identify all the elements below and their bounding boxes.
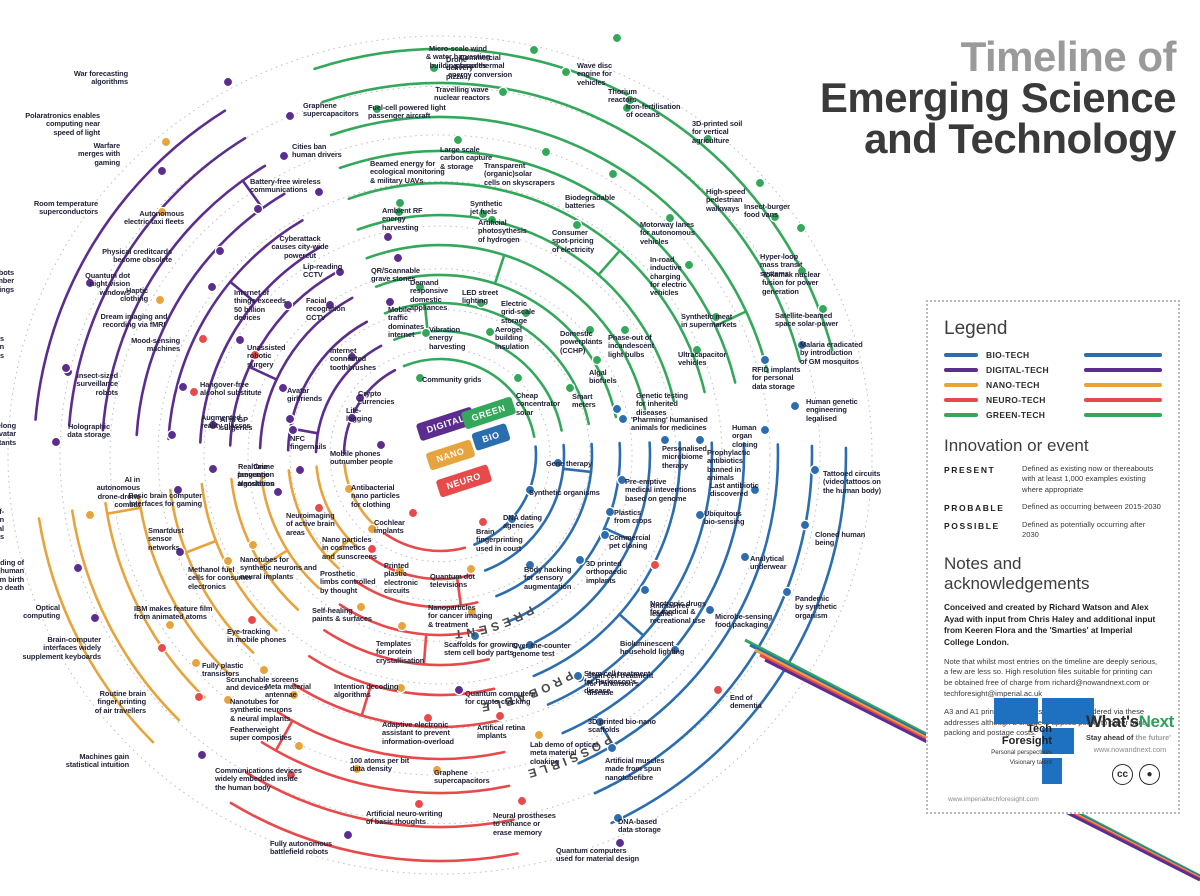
node-dot[interactable] bbox=[343, 830, 352, 839]
legend-item-green-tech: GREEN-TECH bbox=[944, 410, 1162, 420]
node-label: Lifelong avatar assistants bbox=[0, 422, 16, 447]
node-dot[interactable] bbox=[541, 147, 550, 156]
node-label: NFC fingernails bbox=[290, 435, 326, 452]
node-label: Prosthetic limbs controlled by thought bbox=[320, 570, 375, 595]
node-label: Internet of things exceeds 50 billion de… bbox=[234, 289, 286, 322]
node-label: Insect-burger food vans bbox=[744, 203, 790, 220]
node-label: 3D printed bio-nano scaffolds bbox=[588, 718, 656, 735]
whats-next-tagline: Stay ahead of the future' bbox=[1086, 733, 1174, 742]
node-dot[interactable] bbox=[760, 355, 769, 364]
node-label: Personalised microbiome therapy bbox=[662, 445, 707, 470]
node-label: Aerogel building insulation bbox=[495, 326, 529, 351]
title-line-3: and Technology bbox=[820, 118, 1176, 159]
node-label: Routine brain finger printing of air tra… bbox=[50, 690, 146, 715]
node-dot[interactable] bbox=[248, 540, 257, 549]
node-label: Transparent (organic)solar cells on skys… bbox=[484, 162, 555, 187]
branch-connector-nano bbox=[186, 541, 216, 553]
cc-icon: cc bbox=[1112, 764, 1133, 785]
node-label: Eye-tracking in mobile phones bbox=[227, 628, 286, 645]
branch-arc-neuro bbox=[385, 534, 465, 551]
node-label: Basic brain computer interfaces for gami… bbox=[106, 492, 202, 509]
node-label: Printed plastic electronic circuits bbox=[384, 562, 418, 595]
node-label: DNA-based data storage bbox=[618, 818, 661, 835]
node-label: Human genetic engineering legalised bbox=[806, 398, 858, 423]
node-label: IBM makes feature film from animated ato… bbox=[134, 605, 212, 622]
logo-block: Tech Foresight Personal perspectives Vis… bbox=[944, 694, 1174, 804]
node-label: Plastics from crops bbox=[614, 509, 652, 526]
node-label: Cities ban human drivers bbox=[292, 143, 342, 160]
node-label: Beamed energy for ecological monitoring … bbox=[370, 160, 445, 185]
node-label: Artificial muscles made from spun nanotu… bbox=[605, 757, 664, 782]
node-dot[interactable] bbox=[235, 335, 244, 344]
legend-swatch-icon bbox=[944, 353, 978, 357]
node-label: Unassisted robotic surgery bbox=[247, 344, 285, 369]
node-label: Adaptive electronic assistant to prevent… bbox=[382, 721, 454, 746]
node-label: Synthetic organisms bbox=[529, 489, 600, 497]
node-dot[interactable] bbox=[608, 169, 617, 178]
node-dot[interactable] bbox=[279, 151, 288, 160]
node-label: Scaffolds for growing stem cell body par… bbox=[444, 641, 518, 658]
node-label: Mobile phones outnumber people bbox=[330, 450, 393, 467]
node-dot[interactable] bbox=[612, 404, 621, 413]
definition-term: PRESENT bbox=[944, 464, 1022, 495]
legend-swatch-long-icon bbox=[1084, 383, 1162, 387]
node-dot[interactable] bbox=[534, 730, 543, 739]
node-label: Neuroimaging of active brain areas bbox=[286, 512, 335, 537]
node-label: Bioluminescent household lighting bbox=[620, 640, 684, 657]
node-dot[interactable] bbox=[592, 355, 601, 364]
node-dot[interactable] bbox=[790, 401, 799, 410]
node-dot[interactable] bbox=[796, 223, 805, 232]
node-label: Biodegradable batteries bbox=[565, 194, 615, 211]
node-label: Iron-fertilisation of oceans bbox=[626, 103, 680, 120]
node-dot[interactable] bbox=[273, 487, 282, 496]
node-label: Cheap concentrator solar bbox=[516, 392, 560, 417]
wn-part-2: Next bbox=[1139, 712, 1174, 731]
node-label: Avatar girlfriends bbox=[287, 387, 322, 404]
node-label: Quantum computers for crypto-cracking bbox=[465, 690, 536, 707]
node-dot[interactable] bbox=[383, 232, 392, 241]
node-label: Tattooed circuits (video tattoos on the … bbox=[823, 470, 881, 495]
node-label: Intention decoding algorithms bbox=[334, 683, 398, 700]
node-label: Motorway lanes for autonomous vehicles bbox=[640, 221, 695, 246]
legend-swatch-icon bbox=[944, 368, 978, 372]
node-dot[interactable] bbox=[157, 643, 166, 652]
node-label: Community grids bbox=[422, 376, 481, 384]
node-dot[interactable] bbox=[167, 430, 176, 439]
node-label: Nano particles in cosmetics and sunscree… bbox=[322, 536, 377, 561]
node-label: 100 atoms per bit data density bbox=[350, 757, 409, 774]
node-dot[interactable] bbox=[155, 295, 164, 304]
wn-tag-a: Stay ahead of bbox=[1086, 733, 1135, 742]
node-label: 3D printed orthopaedic implants bbox=[586, 560, 627, 585]
notes-heading: Notes and acknowledgements bbox=[944, 554, 1162, 594]
node-dot[interactable] bbox=[650, 560, 659, 569]
legend-swatch-long-icon bbox=[1084, 413, 1162, 417]
node-dot[interactable] bbox=[485, 327, 494, 336]
node-dot[interactable] bbox=[85, 510, 94, 519]
cc-by-person-icon: ● bbox=[1139, 764, 1160, 785]
node-dot[interactable] bbox=[207, 282, 216, 291]
node-label: Holographic data storage bbox=[14, 423, 110, 440]
tf-sub-2: Visionary talent bbox=[966, 759, 1052, 767]
node-label: Tokamak nuclear fusion for power generat… bbox=[762, 271, 820, 296]
page-title: Timeline of Emerging Science and Technol… bbox=[820, 36, 1176, 159]
node-dot[interactable] bbox=[760, 425, 769, 434]
node-dot[interactable] bbox=[165, 620, 174, 629]
legend-swatch-long-icon bbox=[1084, 353, 1162, 357]
node-label: 3D-printed soil for vertical agriculture bbox=[692, 120, 742, 145]
legend-rows: BIO-TECHDIGITAL-TECHNANO-TECHNEURO-TECHG… bbox=[944, 350, 1162, 420]
node-label: Cochlear implants bbox=[374, 519, 405, 536]
node-label: Recording of entire human life from birt… bbox=[0, 559, 24, 592]
node-label: Satellite-beamed space solar-power bbox=[775, 312, 838, 329]
definition-desc: Defined as occurring between 2015-2030 bbox=[1022, 502, 1161, 513]
definition-term: PROBABLE bbox=[944, 502, 1022, 513]
legend-item-nano-tech: NANO-TECH bbox=[944, 380, 1162, 390]
node-label: Polaratronics enables computing near spe… bbox=[4, 112, 100, 137]
node-dot[interactable] bbox=[73, 563, 82, 572]
node-label: Ubiquitous bio-sensing bbox=[704, 510, 744, 527]
node-label: 'Pharming' humanised animals for medicin… bbox=[631, 416, 708, 433]
node-dot[interactable] bbox=[90, 613, 99, 622]
node-label: Human organ cloning bbox=[732, 424, 758, 449]
node-dot[interactable] bbox=[197, 750, 206, 759]
legend-label: DIGITAL-TECH bbox=[986, 365, 1062, 375]
node-label: Life- logging bbox=[346, 407, 372, 424]
node-label: Insect-sized surveillance robots bbox=[22, 372, 118, 397]
whats-next-url[interactable]: www.nowandnext.com bbox=[1086, 745, 1174, 754]
legend-label: NEURO-TECH bbox=[986, 395, 1062, 405]
node-label: Artificial photosythesis of hydrogen bbox=[478, 219, 527, 244]
node-label: Ambient RF energy harvesting bbox=[382, 207, 422, 232]
node-label: Lip-reading CCTV bbox=[303, 263, 342, 280]
node-label: Battery-free wireless communications bbox=[250, 178, 321, 195]
node-label: Facial recognition CCTV bbox=[306, 297, 345, 322]
node-dot[interactable] bbox=[755, 178, 764, 187]
title-line-1: Timeline of bbox=[820, 36, 1176, 77]
node-dot[interactable] bbox=[247, 615, 256, 624]
node-dot[interactable] bbox=[782, 587, 791, 596]
definition-desc: Defined as existing now or thereabouts w… bbox=[1022, 464, 1162, 495]
node-dot[interactable] bbox=[191, 658, 200, 667]
innovation-heading: Innovation or event bbox=[944, 436, 1162, 456]
node-label: Phase-out of incandescent light bulbs bbox=[608, 334, 654, 359]
node-dot[interactable] bbox=[285, 111, 294, 120]
node-label: Wave disc engine for vehicles bbox=[577, 62, 612, 87]
node-label: Quantum dot televisions bbox=[430, 573, 475, 590]
definition-probable: PROBABLEDefined as occurring between 201… bbox=[944, 502, 1162, 513]
node-label: War forecasting algorithms bbox=[32, 70, 128, 87]
node-label: Quantum computers used for material desi… bbox=[556, 847, 639, 864]
node-label: DNA dating agencies bbox=[503, 514, 542, 531]
node-dot[interactable] bbox=[810, 465, 819, 474]
notes-para-1: Note that whilst most entries on the tim… bbox=[944, 657, 1162, 700]
node-label: Templates for protein crystallisation bbox=[376, 640, 424, 665]
creative-commons-badges: cc ● bbox=[1112, 764, 1160, 785]
node-label: Vibration energy harvesting bbox=[429, 326, 465, 351]
legend-item-digital-tech: DIGITAL-TECH bbox=[944, 365, 1162, 375]
node-dot[interactable] bbox=[800, 520, 809, 529]
node-label: Communications devices widely embedded i… bbox=[215, 767, 302, 792]
legend-item-neuro-tech: NEURO-TECH bbox=[944, 395, 1162, 405]
node-label: Stem cell treatment for Parkinson's dise… bbox=[584, 670, 650, 695]
legend-swatch-long-icon bbox=[1084, 398, 1162, 402]
node-dot[interactable] bbox=[740, 552, 749, 561]
node-dot[interactable] bbox=[198, 334, 207, 343]
node-label: Gene therapy bbox=[546, 460, 592, 468]
node-label: Analytical underwear bbox=[750, 555, 786, 572]
innovation-rows: PRESENTDefined as existing now or therea… bbox=[944, 464, 1162, 540]
node-dot[interactable] bbox=[223, 77, 232, 86]
node-dot[interactable] bbox=[285, 414, 294, 423]
node-label: Antibacterial nano particles for clothin… bbox=[351, 484, 400, 509]
node-label: Domestic powerplants (CCHP) bbox=[560, 330, 602, 355]
node-label: Cloned human being bbox=[815, 531, 865, 548]
whats-next-logo: What'sNext Stay ahead of the future' www… bbox=[1086, 712, 1174, 754]
node-label: Graphene supercapacitors bbox=[434, 769, 490, 786]
branch-connector-green bbox=[495, 255, 504, 284]
node-label: Graphene supercapacitors bbox=[303, 102, 359, 119]
node-dot[interactable] bbox=[161, 137, 170, 146]
tf-line-1: Tech bbox=[966, 724, 1052, 736]
node-label: Autonomous self-replication of crude non… bbox=[0, 508, 4, 541]
definition-present: PRESENTDefined as existing now or therea… bbox=[944, 464, 1162, 495]
node-label: High-speed pedestrian walkways bbox=[706, 188, 745, 213]
node-label: Demand responsive domestic appliances bbox=[410, 279, 448, 312]
node-dot[interactable] bbox=[259, 665, 268, 674]
node-label: Warfare merges with gaming bbox=[24, 142, 120, 167]
node-label: Neural prostheses to enhance or erase me… bbox=[493, 812, 556, 837]
node-dot[interactable] bbox=[705, 605, 714, 614]
node-label: Body hacking for sensory augmentation bbox=[524, 566, 571, 591]
branch-connector-bio bbox=[563, 469, 591, 472]
tech-foresight-text: Tech Foresight Personal perspectives Vis… bbox=[966, 724, 1052, 767]
tf-line-2: Foresight bbox=[966, 736, 1052, 748]
node-label: End of dementia bbox=[730, 694, 762, 711]
branch-connector-bio bbox=[620, 614, 644, 635]
node-label: Consumer spot-pricing of electricity bbox=[552, 229, 594, 254]
node-dot[interactable] bbox=[157, 166, 166, 175]
node-label: Commercial pet cloning bbox=[609, 534, 650, 551]
node-label: Crypto currencies bbox=[358, 390, 394, 407]
node-label: Optical computing bbox=[0, 604, 60, 621]
node-label: Quantum dot night vision windows bbox=[34, 272, 130, 297]
wn-part-1: What's bbox=[1086, 712, 1139, 731]
legend-swatch-icon bbox=[944, 413, 978, 417]
node-dot[interactable] bbox=[612, 33, 621, 42]
legend-swatch-long-icon bbox=[1084, 368, 1162, 372]
node-dot[interactable] bbox=[517, 796, 526, 805]
node-label: Brain-computer interfaces widely supplem… bbox=[5, 636, 101, 661]
node-dot[interactable] bbox=[215, 246, 224, 255]
node-label: Augmented reality glasses bbox=[201, 414, 250, 431]
legend-panel: Legend BIO-TECHDIGITAL-TECHNANO-TECHNEUR… bbox=[926, 300, 1180, 814]
tf-sub-1: Personal perspectives bbox=[966, 749, 1052, 757]
node-dot[interactable] bbox=[295, 465, 304, 474]
node-dot[interactable] bbox=[713, 685, 722, 694]
legend-label: BIO-TECH bbox=[986, 350, 1062, 360]
node-label: Physical creditcards become obsolete bbox=[76, 248, 172, 265]
node-label: Synthetic jet fuels bbox=[470, 200, 502, 217]
node-label: Featherweight super composites bbox=[230, 726, 292, 743]
node-dot[interactable] bbox=[393, 253, 402, 262]
node-label: Animal-free leather bbox=[650, 602, 690, 619]
node-label: Mood-sensing machines bbox=[84, 337, 180, 354]
node-label: Crime prevention algorithms bbox=[178, 463, 274, 488]
node-label: In-road inductive charging for electric … bbox=[650, 256, 687, 297]
node-dot[interactable] bbox=[397, 621, 406, 630]
node-label: Last antibiotic discovered bbox=[710, 482, 759, 499]
node-label: Dream imaging and recording via fMRI bbox=[82, 313, 186, 330]
node-dot[interactable] bbox=[618, 414, 627, 423]
title-line-2: Emerging Science bbox=[820, 77, 1176, 118]
node-label: Travelling wave nuclear reactors bbox=[410, 86, 514, 103]
node-label: Artificial neuro-writing of basic though… bbox=[366, 810, 442, 827]
definition-desc: Defined as potentially occurring after 2… bbox=[1022, 520, 1162, 541]
node-label: Brain fingerprinting used in court bbox=[476, 528, 523, 553]
node-label: Algal biofuels bbox=[589, 369, 617, 386]
node-dot[interactable] bbox=[253, 204, 262, 213]
node-dot[interactable] bbox=[513, 373, 522, 382]
node-label: Internet connected toothbrushes bbox=[330, 347, 376, 372]
legend-swatch-icon bbox=[944, 398, 978, 402]
node-dot[interactable] bbox=[478, 517, 487, 526]
node-label: Internet of things exceeds 1 trillion de… bbox=[0, 335, 4, 360]
legend-swatch-icon bbox=[944, 383, 978, 387]
node-label: Smartdust sensor networks bbox=[148, 527, 184, 552]
node-label: Prophylactic antibiotics banned in anima… bbox=[707, 449, 750, 482]
wn-tag-b: the future' bbox=[1135, 733, 1170, 742]
node-dot[interactable] bbox=[575, 555, 584, 564]
node-label: LED street lighting bbox=[462, 289, 498, 306]
node-dot[interactable] bbox=[495, 711, 504, 720]
node-label: Smart meters bbox=[572, 393, 596, 410]
legend-item-bio-tech: BIO-TECH bbox=[944, 350, 1162, 360]
node-dot[interactable] bbox=[640, 585, 649, 594]
legend-heading: Legend bbox=[944, 318, 1162, 340]
definition-possible: POSSIBLEDefined as potentially occurring… bbox=[944, 520, 1162, 541]
node-label: RFID implants for personal data storage bbox=[752, 366, 800, 391]
legend-label: GREEN-TECH bbox=[986, 410, 1062, 420]
tech-foresight-url[interactable]: www.imperialtechforesight.com bbox=[948, 796, 1039, 803]
node-dot[interactable] bbox=[294, 741, 303, 750]
node-dot[interactable] bbox=[453, 135, 462, 144]
node-label: Self-healing paints & surfaces bbox=[312, 607, 372, 624]
node-dot[interactable] bbox=[178, 382, 187, 391]
whats-next-wordmark: What'sNext bbox=[1086, 712, 1174, 732]
node-label: Cyberattack causes city-wide powercut bbox=[248, 235, 352, 260]
node-dot[interactable] bbox=[414, 799, 423, 808]
definition-term: POSSIBLE bbox=[944, 520, 1022, 541]
node-dot[interactable] bbox=[194, 692, 203, 701]
node-label: Fuel-cell powered light passenger aircra… bbox=[368, 104, 446, 121]
branch-connector-green bbox=[599, 251, 620, 275]
node-label: Pre-emptive medical inteventions based o… bbox=[625, 478, 696, 503]
node-label: Nanotubes for synthetic neurons & neural… bbox=[230, 698, 292, 723]
node-label: Ultracapacitor vehicles bbox=[678, 351, 726, 368]
node-label: Hangover-free alcohol substitute bbox=[200, 381, 261, 398]
node-label: Machines gain statistical intuition bbox=[33, 753, 129, 770]
node-label: Robots outnumber human beings bbox=[0, 269, 14, 294]
node-label: Malaria eradicated by introduction of GM… bbox=[800, 341, 863, 366]
node-label: Pandemic by synthetic organism bbox=[795, 595, 837, 620]
node-dot[interactable] bbox=[189, 387, 198, 396]
node-label: Micro-scale wind & water harvesting buil… bbox=[406, 45, 510, 70]
node-label: Nanotubes for synthetic neurons and neur… bbox=[240, 556, 317, 581]
node-label: Electric grid-scale storage bbox=[501, 300, 535, 325]
legend-label: NANO-TECH bbox=[986, 380, 1062, 390]
node-label: Room temperature superconductors bbox=[2, 200, 98, 217]
node-dot[interactable] bbox=[561, 67, 570, 76]
node-label: Autonomous electric taxi fleets bbox=[88, 210, 184, 227]
node-dot[interactable] bbox=[454, 685, 463, 694]
node-label: Artifical retina implants bbox=[477, 724, 525, 741]
node-dot[interactable] bbox=[408, 508, 417, 517]
node-label: Microbe-sensing food packaging bbox=[715, 613, 772, 630]
node-label: Fully autonomous battlefield robots bbox=[270, 840, 332, 857]
node-label: Over-the-counter genome test bbox=[512, 642, 570, 659]
node-label: Synthetic meat in supermarkets bbox=[681, 313, 737, 330]
node-label: Nanoparticles for cancer imaging & treat… bbox=[428, 604, 492, 629]
node-label: Genetic testing for inherited diseases bbox=[636, 392, 688, 417]
branch-connector-neuro bbox=[424, 635, 426, 665]
notes-credit: Conceived and created by Richard Watson … bbox=[944, 602, 1162, 648]
node-label: Lab demo of optical meta material cloaki… bbox=[530, 741, 598, 766]
